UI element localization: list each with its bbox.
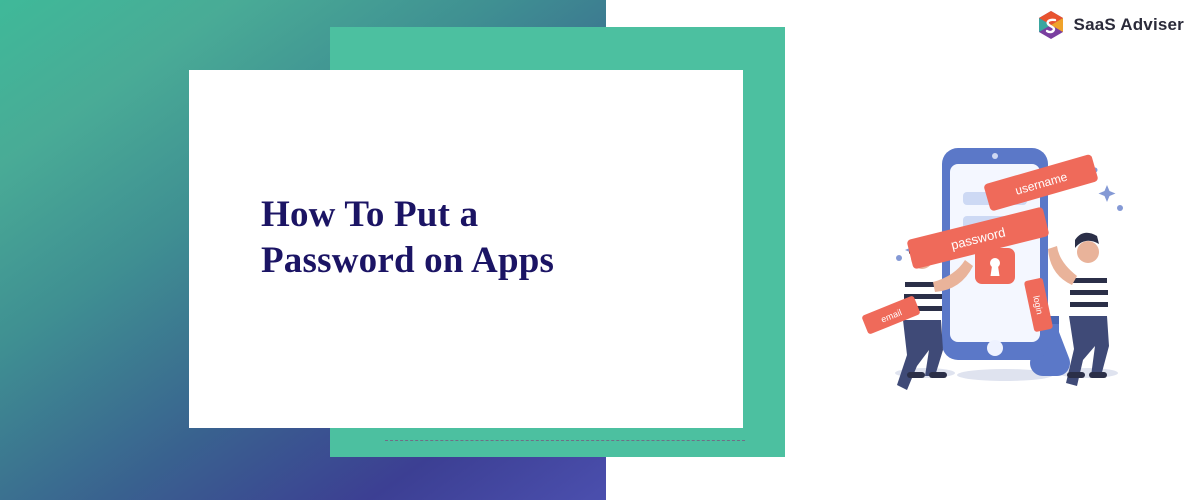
page-title-line-1: How To Put a xyxy=(261,192,681,238)
page-title-line-2: Password on Apps xyxy=(261,238,681,284)
password-security-illustration: email login password username xyxy=(845,130,1165,390)
hero-card: How To Put a Password on Apps xyxy=(189,70,743,428)
page-title: How To Put a Password on Apps xyxy=(261,192,681,284)
page-root: How To Put a Password on Apps SaaS Advis… xyxy=(0,0,1200,500)
saas-adviser-hexagon-logo-icon xyxy=(1036,10,1066,40)
brand-logo[interactable]: SaaS Adviser xyxy=(1036,10,1184,40)
dashed-divider xyxy=(385,440,745,441)
brand-name: SaaS Adviser xyxy=(1074,15,1184,35)
